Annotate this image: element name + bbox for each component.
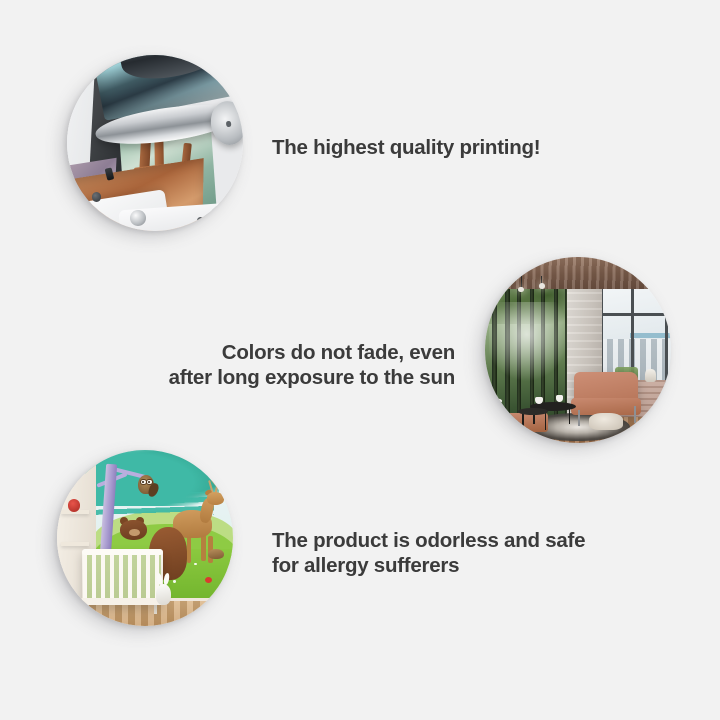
nursery-animal-mural-photo — [57, 450, 233, 626]
printing-press-photo — [67, 55, 243, 231]
caption-odorless-safe: The product is odorless and safe for all… — [272, 528, 612, 578]
living-room-forest-mural-photo — [485, 257, 671, 443]
caption-fade-resistance: Colors do not fade, even after long expo… — [135, 340, 455, 390]
printing-press-illustration — [67, 55, 243, 231]
living-room-illustration — [485, 257, 671, 443]
nursery-illustration — [57, 450, 233, 626]
promo-infographic: The highest quality printing! — [0, 0, 720, 720]
caption-printing-quality: The highest quality printing! — [272, 135, 602, 160]
